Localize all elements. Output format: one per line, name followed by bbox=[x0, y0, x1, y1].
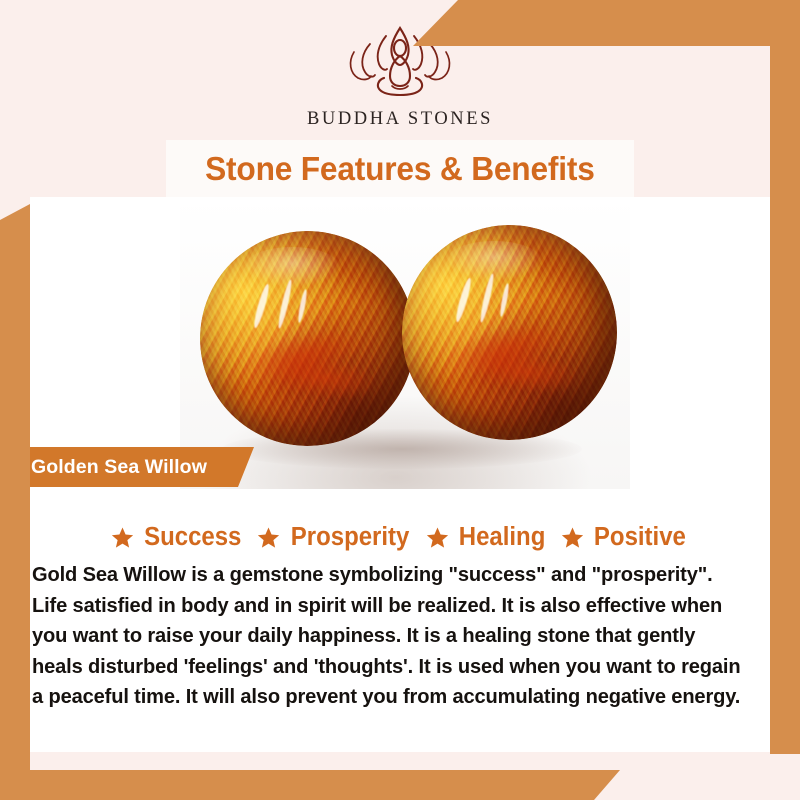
brand-name: BUDDHA STONES bbox=[307, 109, 493, 130]
stone-name-banner: Golden Sea Willow bbox=[14, 447, 254, 487]
frame-top-bar bbox=[413, 0, 800, 46]
benefit-label: Positive bbox=[594, 523, 686, 552]
frame-left-bar bbox=[0, 204, 30, 800]
benefit-label: Success bbox=[144, 523, 241, 552]
benefit-label: Prosperity bbox=[291, 523, 410, 552]
sphere-rim-shading bbox=[200, 231, 415, 446]
stone-sphere-right bbox=[402, 225, 617, 440]
star-icon bbox=[426, 526, 449, 549]
stone-description: Gold Sea Willow is a gemstone symbolizin… bbox=[32, 560, 742, 713]
product-photo bbox=[30, 197, 770, 489]
benefit-item-positive: Positive bbox=[561, 523, 689, 552]
benefit-label: Healing bbox=[459, 523, 546, 552]
star-icon bbox=[111, 526, 134, 549]
benefit-item-success: Success bbox=[111, 523, 245, 552]
benefits-row: Success Prosperity Healing Positive bbox=[30, 518, 770, 556]
benefit-item-healing: Healing bbox=[426, 523, 548, 552]
stone-name-label: Golden Sea Willow bbox=[31, 456, 207, 479]
star-icon bbox=[257, 526, 280, 549]
star-icon bbox=[561, 526, 584, 549]
benefit-item-prosperity: Prosperity bbox=[257, 523, 413, 552]
product-infographic: BUDDHA STONES Stone Features & Benefits bbox=[0, 0, 800, 800]
sphere-rim-shading bbox=[402, 225, 617, 440]
page-title: Stone Features & Benefits bbox=[205, 150, 595, 188]
frame-bottom-bar bbox=[0, 770, 620, 800]
frame-right-bar bbox=[770, 0, 800, 754]
stone-sphere-left bbox=[200, 231, 415, 446]
title-band: Stone Features & Benefits bbox=[166, 140, 634, 197]
photo-canvas bbox=[180, 197, 630, 489]
